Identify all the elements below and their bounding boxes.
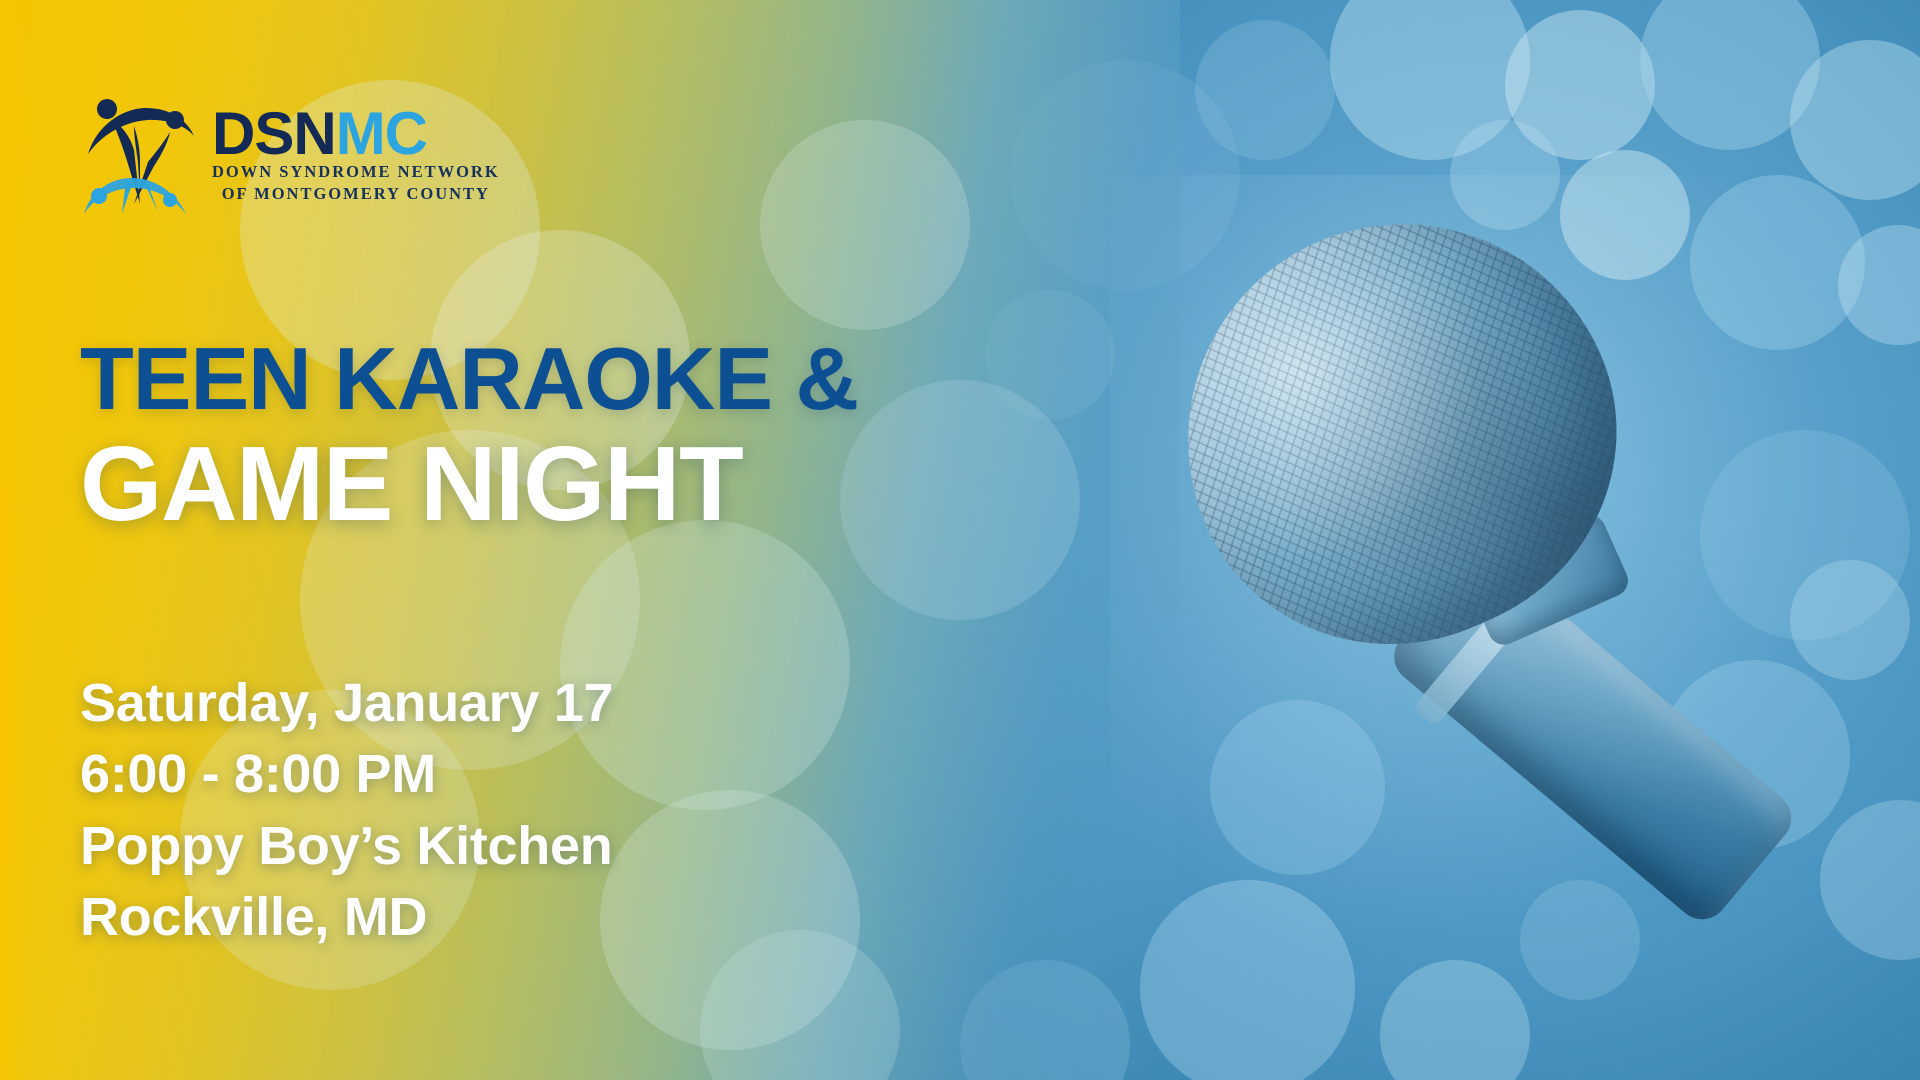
headline-line-1: TEEN KARAOKE & <box>80 335 858 423</box>
headline-line-2: GAME NIGHT <box>80 431 858 537</box>
logo-tagline-line-2: OF MONTGOMERY COUNTY <box>212 183 500 205</box>
event-details: Saturday, January 17 6:00 - 8:00 PM Popp… <box>80 668 613 953</box>
event-time: 6:00 - 8:00 PM <box>80 739 613 810</box>
dsnmc-people-logo-mark-icon <box>82 92 200 214</box>
event-location: Rockville, MD <box>80 882 613 953</box>
logo-word-dsn: DSN <box>212 100 336 167</box>
event-date: Saturday, January 17 <box>80 668 613 739</box>
logo-tagline-line-1: DOWN SYNDROME NETWORK <box>212 161 500 183</box>
event-venue: Poppy Boy’s Kitchen <box>80 811 613 882</box>
logo-word-mc: MC <box>336 100 427 167</box>
dsnmc-logo: DSNMC DOWN SYNDROME NETWORK OF MONTGOMER… <box>82 92 500 214</box>
event-headline: TEEN KARAOKE & GAME NIGHT <box>80 335 858 537</box>
event-flyer: DSNMC DOWN SYNDROME NETWORK OF MONTGOMER… <box>0 0 1920 1080</box>
